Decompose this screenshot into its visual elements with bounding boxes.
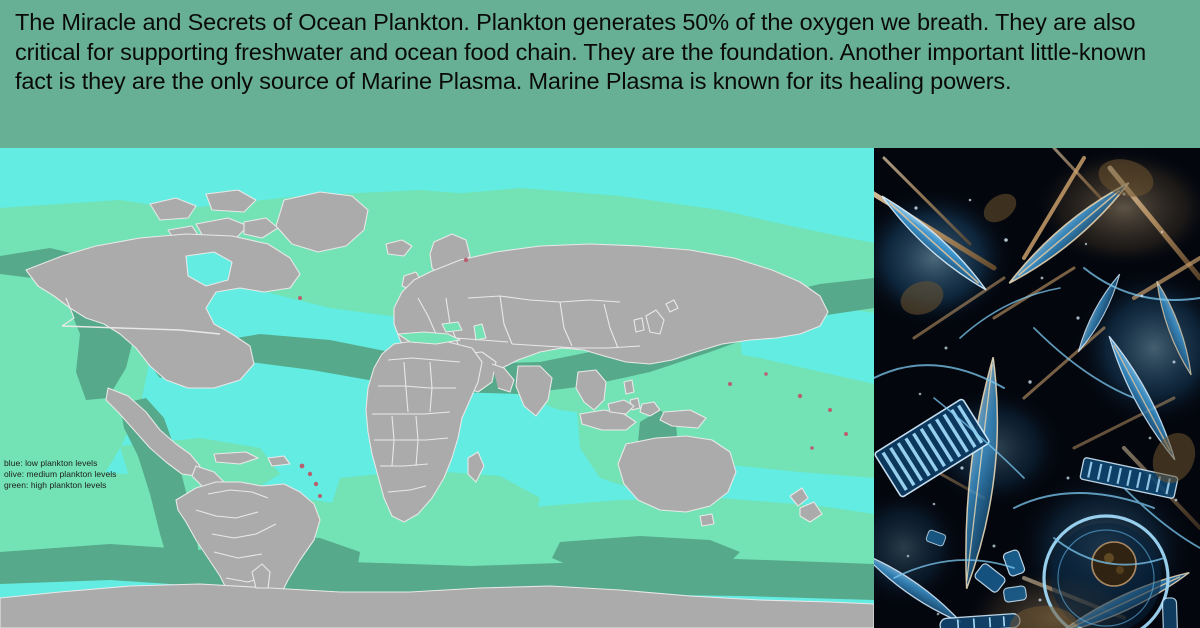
island-dot-2: [308, 472, 312, 476]
island-dot-3: [314, 482, 318, 486]
map-graphic: [0, 148, 874, 628]
map-legend: blue: low plankton levels olive: medium …: [4, 458, 116, 491]
island-pac-3: [844, 432, 848, 436]
header-paragraph: The Miracle and Secrets of Ocean Plankto…: [15, 8, 1186, 97]
island-atl-1: [298, 296, 302, 300]
land-philippines: [624, 380, 634, 394]
plankton-infographic-poster: The Miracle and Secrets of Ocean Plankto…: [0, 0, 1200, 628]
legend-line-green: green: high plankton levels: [4, 480, 116, 491]
diatom-photo-graphic: [874, 148, 1200, 628]
plankton-map: blue: low plankton levels olive: medium …: [0, 148, 874, 628]
island-pac-2: [828, 408, 832, 412]
land-korea: [634, 318, 644, 332]
island-pac-1: [798, 394, 802, 398]
diatom-photograph: [874, 148, 1200, 628]
legend-line-olive: olive: medium plankton levels: [4, 469, 116, 480]
island-pac-6: [764, 372, 768, 376]
island-dot-1: [300, 464, 305, 469]
legend-line-blue: blue: low plankton levels: [4, 458, 116, 469]
land-tasmania: [700, 514, 714, 526]
island-nor-1: [464, 258, 468, 262]
header-banner: The Miracle and Secrets of Ocean Plankto…: [0, 0, 1200, 148]
black-sea: [442, 322, 462, 332]
island-pac-4: [810, 446, 814, 450]
body-area: blue: low plankton levels olive: medium …: [0, 148, 1200, 628]
island-pac-5: [728, 382, 732, 386]
island-dot-4: [318, 494, 322, 498]
